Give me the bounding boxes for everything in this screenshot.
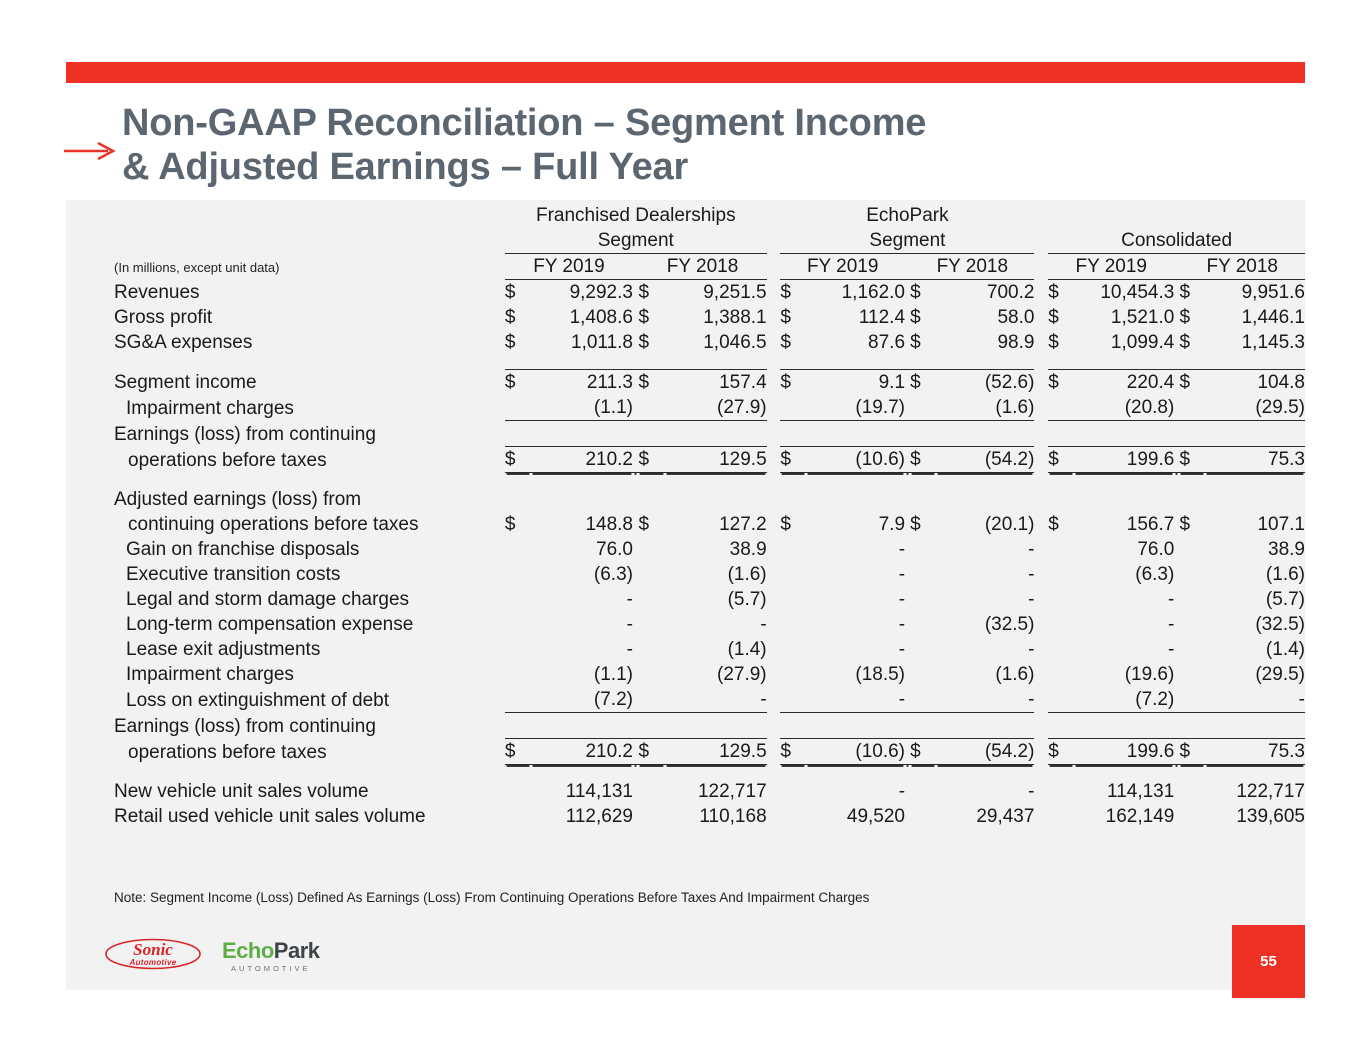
echopark-automotive-logo: EchoPark AUTOMOTIVE [222, 940, 320, 970]
table-cell-value: - [1205, 687, 1305, 713]
table-cell-value: 112,629 [531, 804, 633, 829]
table-cell-value: - [531, 637, 633, 662]
currency-symbol: $ [1179, 330, 1205, 355]
currency-symbol: $ [1179, 305, 1205, 330]
year-ep-2019: FY 2019 [780, 254, 905, 280]
year-ep-2018: FY 2018 [910, 254, 1034, 280]
column-gap [767, 739, 781, 765]
currency-symbol [780, 562, 806, 587]
currency-symbol: $ [910, 739, 936, 765]
table-cell-value: 98.9 [936, 330, 1035, 355]
column-gap [1034, 804, 1048, 829]
currency-symbol: $ [780, 447, 806, 473]
table-cell-value: 129.5 [665, 739, 767, 765]
table-row: continuing operations before taxes$148.8… [66, 512, 1305, 537]
currency-symbol [638, 687, 664, 713]
currency-symbol: $ [505, 447, 531, 473]
column-gap [767, 562, 781, 587]
table-row: Revenues$9,292.3$9,251.5$1,162.0$700.2$1… [66, 280, 1305, 306]
table-cell-value [1205, 713, 1305, 739]
year-co-2019: FY 2019 [1048, 254, 1174, 280]
currency-symbol: $ [1048, 447, 1074, 473]
table-spacer-row [66, 355, 1305, 370]
currency-symbol [910, 687, 936, 713]
row-label: Executive transition costs [66, 562, 505, 587]
echopark-wordmark: EchoPark [222, 940, 320, 962]
column-gap [1034, 587, 1048, 612]
table-row: SG&A expenses$1,011.8$1,046.5$87.6$98.9$… [66, 330, 1305, 355]
currency-symbol [780, 587, 806, 612]
column-gap [767, 421, 781, 447]
table-cell-value: - [806, 562, 905, 587]
table-cell-value: - [806, 612, 905, 637]
table-cell-value: - [936, 587, 1035, 612]
table-cell-value: (52.6) [936, 370, 1035, 396]
currency-symbol: $ [638, 305, 664, 330]
currency-symbol [780, 637, 806, 662]
column-gap [767, 637, 781, 662]
currency-symbol [910, 612, 936, 637]
table-cell-value: 76.0 [1074, 537, 1175, 562]
page-number-text: 55 [1260, 953, 1277, 970]
column-gap [767, 713, 781, 739]
financial-table: Franchised Dealerships EchoPark Segment … [66, 203, 1305, 829]
table-cell-value: - [806, 637, 905, 662]
table-cell-value: (1.4) [1205, 637, 1305, 662]
table-cell-value [936, 713, 1035, 739]
currency-symbol [1179, 421, 1205, 447]
table-cell-value: 148.8 [531, 512, 633, 537]
currency-symbol: $ [1179, 512, 1205, 537]
table-row: operations before taxes$210.2$129.5$(10.… [66, 447, 1305, 473]
page-number-badge: 55 [1232, 925, 1305, 998]
currency-symbol: $ [638, 512, 664, 537]
table-cell-value: 1,408.6 [531, 305, 633, 330]
table-cell-value: (1.4) [665, 637, 767, 662]
footnote: Note: Segment Income (Loss) Defined As E… [114, 890, 869, 905]
table-cell-value: 110,168 [665, 804, 767, 829]
table-cell-value: 87.6 [806, 330, 905, 355]
table-cell-value: - [936, 687, 1035, 713]
table-cell-value: 199.6 [1074, 739, 1175, 765]
row-label: Segment income [66, 370, 505, 396]
table-cell-value: 75.3 [1205, 739, 1305, 765]
currency-symbol [1048, 637, 1074, 662]
currency-symbol: $ [1179, 447, 1205, 473]
currency-symbol: $ [505, 370, 531, 396]
table-cell-value: (19.6) [1074, 662, 1175, 687]
currency-symbol [505, 421, 531, 447]
title-line-1: Non-GAAP Reconciliation – Segment Income [122, 102, 926, 144]
currency-symbol [1048, 713, 1074, 739]
row-label: Earnings (loss) from continuing [66, 421, 505, 447]
currency-symbol [910, 421, 936, 447]
currency-symbol [505, 587, 531, 612]
currency-symbol: $ [780, 330, 806, 355]
row-label: Gross profit [66, 305, 505, 330]
echopark-subtitle: AUTOMOTIVE [222, 964, 320, 973]
table-group-header-row-1: Franchised Dealerships EchoPark [66, 203, 1305, 228]
table-cell-value: 210.2 [531, 739, 633, 765]
currency-symbol [1048, 537, 1074, 562]
table-cell-value: 76.0 [531, 537, 633, 562]
table-cell-value: - [806, 587, 905, 612]
row-label: Long-term compensation expense [66, 612, 505, 637]
currency-symbol [1179, 612, 1205, 637]
row-label: Adjusted earnings (loss) from [66, 487, 505, 512]
table-cell-value: 114,131 [531, 779, 633, 804]
red-arrow-icon [64, 140, 116, 162]
column-gap [1034, 395, 1048, 421]
column-gap [767, 804, 781, 829]
table-cell-value: (5.7) [1205, 587, 1305, 612]
group-sub-echopark: Segment [780, 228, 1034, 254]
currency-symbol: $ [1048, 512, 1074, 537]
table-row: Loss on extinguishment of debt(7.2)---(7… [66, 687, 1305, 713]
currency-symbol: $ [780, 280, 806, 306]
currency-symbol [1048, 662, 1074, 687]
currency-symbol: $ [1179, 739, 1205, 765]
table-cell-value: (1.6) [1205, 562, 1305, 587]
currency-symbol: $ [1048, 370, 1074, 396]
row-label: Legal and storm damage charges [66, 587, 505, 612]
year-co-2018: FY 2018 [1179, 254, 1305, 280]
sonic-automotive-logo: Sonic Automotive [104, 936, 202, 972]
table-cell-value: (1.1) [531, 662, 633, 687]
column-gap [767, 779, 781, 804]
currency-symbol: $ [1048, 739, 1074, 765]
group-title-consolidated-blank [1048, 203, 1305, 228]
table-cell-value: (27.9) [665, 662, 767, 687]
group-title-echopark: EchoPark [780, 203, 1034, 228]
column-gap [767, 305, 781, 330]
table-cell-value: - [936, 637, 1035, 662]
column-gap [1034, 447, 1048, 473]
currency-symbol [505, 395, 531, 421]
table-cell-value: (19.7) [806, 395, 905, 421]
currency-symbol [1179, 395, 1205, 421]
column-gap [767, 662, 781, 687]
table-cell-value: (7.2) [1074, 687, 1175, 713]
table-cell-value [936, 487, 1035, 512]
currency-symbol [780, 662, 806, 687]
column-gap [1034, 662, 1048, 687]
currency-symbol [1179, 487, 1205, 512]
currency-symbol [638, 537, 664, 562]
currency-symbol [638, 779, 664, 804]
currency-symbol: $ [505, 739, 531, 765]
currency-symbol: $ [1048, 305, 1074, 330]
row-label: Earnings (loss) from continuing [66, 713, 505, 739]
slide: Non-GAAP Reconciliation – Segment Income… [0, 0, 1365, 1055]
currency-symbol [505, 537, 531, 562]
table-cell-value: (10.6) [806, 447, 905, 473]
table-cell-value: 10,454.3 [1074, 280, 1175, 306]
red-top-bar [66, 62, 1305, 83]
table-cell-value: 211.3 [531, 370, 633, 396]
currency-symbol [1048, 421, 1074, 447]
table-cell-value: (6.3) [1074, 562, 1175, 587]
table-spacer-row [66, 473, 1305, 488]
currency-symbol [1179, 687, 1205, 713]
table-row: New vehicle unit sales volume114,131122,… [66, 779, 1305, 804]
currency-symbol [1179, 562, 1205, 587]
table-cell-value: 58.0 [936, 305, 1035, 330]
column-gap [1034, 612, 1048, 637]
currency-symbol [638, 637, 664, 662]
echopark-echo-text: Echo [222, 938, 274, 963]
table-row: Earnings (loss) from continuing [66, 713, 1305, 739]
page-title: Non-GAAP Reconciliation – Segment Income… [122, 101, 1172, 189]
currency-symbol [505, 779, 531, 804]
currency-symbol: $ [780, 739, 806, 765]
currency-symbol [1048, 587, 1074, 612]
table-cell-value: 7.9 [806, 512, 905, 537]
table-cell-value: (1.6) [936, 395, 1035, 421]
currency-symbol: $ [780, 512, 806, 537]
table-cell-value [1205, 421, 1305, 447]
units-caption: (In millions, except unit data) [66, 254, 505, 280]
currency-symbol [638, 487, 664, 512]
currency-symbol [910, 779, 936, 804]
currency-symbol: $ [505, 512, 531, 537]
table-cell-value [1074, 421, 1175, 447]
currency-symbol: $ [638, 330, 664, 355]
table-cell-value: 122,717 [1205, 779, 1305, 804]
table-cell-value [1205, 487, 1305, 512]
column-gap [1034, 637, 1048, 662]
currency-symbol [910, 637, 936, 662]
currency-symbol [1179, 587, 1205, 612]
currency-symbol: $ [910, 280, 936, 306]
table-cell-value [806, 713, 905, 739]
currency-symbol [780, 779, 806, 804]
table-cell-value: - [806, 687, 905, 713]
table-cell-value: 129.5 [665, 447, 767, 473]
currency-symbol [638, 662, 664, 687]
table-cell-value: 75.3 [1205, 447, 1305, 473]
currency-symbol [780, 487, 806, 512]
table-cell-value [531, 713, 633, 739]
table-cell-value: - [531, 587, 633, 612]
table-cell-value: 157.4 [665, 370, 767, 396]
table-row: Impairment charges(1.1)(27.9)(18.5)(1.6)… [66, 662, 1305, 687]
currency-symbol: $ [638, 739, 664, 765]
currency-symbol [780, 612, 806, 637]
table-cell-value: (27.9) [665, 395, 767, 421]
svg-text:Sonic: Sonic [133, 940, 173, 959]
table-cell-value: 29,437 [936, 804, 1035, 829]
table-row: operations before taxes$210.2$129.5$(10.… [66, 739, 1305, 765]
table-row: Executive transition costs(6.3)(1.6)--(6… [66, 562, 1305, 587]
column-gap [767, 687, 781, 713]
table-cell-value: 700.2 [936, 280, 1035, 306]
column-gap [1034, 421, 1048, 447]
currency-symbol [505, 612, 531, 637]
currency-symbol [910, 395, 936, 421]
table-cell-value: 38.9 [665, 537, 767, 562]
column-gap [767, 612, 781, 637]
table-cell-value: 210.2 [531, 447, 633, 473]
table-row: Lease exit adjustments-(1.4)---(1.4) [66, 637, 1305, 662]
year-fr-2018: FY 2018 [638, 254, 766, 280]
row-label: operations before taxes [66, 447, 505, 473]
currency-symbol [505, 804, 531, 829]
column-gap [1034, 537, 1048, 562]
table-cell-value: 1,145.3 [1205, 330, 1305, 355]
row-label: continuing operations before taxes [66, 512, 505, 537]
table-cell-value [806, 487, 905, 512]
currency-symbol [638, 587, 664, 612]
table-cell-value: 156.7 [1074, 512, 1175, 537]
currency-symbol [1048, 804, 1074, 829]
currency-symbol [505, 637, 531, 662]
table-cell-value: (20.8) [1074, 395, 1175, 421]
column-gap [1034, 487, 1048, 512]
echopark-park-text: Park [274, 938, 320, 963]
table-cell-value: 112.4 [806, 305, 905, 330]
row-label: SG&A expenses [66, 330, 505, 355]
column-gap [1034, 739, 1048, 765]
table-row: Adjusted earnings (loss) from [66, 487, 1305, 512]
currency-symbol [505, 662, 531, 687]
table-cell-value: (7.2) [531, 687, 633, 713]
table-cell-value: 127.2 [665, 512, 767, 537]
currency-symbol [910, 562, 936, 587]
row-label: Lease exit adjustments [66, 637, 505, 662]
year-fr-2019: FY 2019 [505, 254, 633, 280]
table-cell-value: (32.5) [1205, 612, 1305, 637]
currency-symbol: $ [638, 370, 664, 396]
column-gap [767, 370, 781, 396]
table-cell-value: - [936, 562, 1035, 587]
column-gap [767, 512, 781, 537]
column-gap [767, 395, 781, 421]
currency-symbol [1179, 537, 1205, 562]
currency-symbol: $ [638, 447, 664, 473]
column-gap [1034, 305, 1048, 330]
table-cell-value: 162,149 [1074, 804, 1175, 829]
currency-symbol: $ [780, 305, 806, 330]
table-row: Impairment charges(1.1)(27.9)(19.7)(1.6)… [66, 395, 1305, 421]
svg-text:Automotive: Automotive [129, 958, 177, 967]
row-label: New vehicle unit sales volume [66, 779, 505, 804]
currency-symbol [1179, 779, 1205, 804]
currency-symbol [780, 537, 806, 562]
table-cell-value: - [806, 779, 905, 804]
currency-symbol [1179, 713, 1205, 739]
currency-symbol [780, 804, 806, 829]
currency-symbol [1048, 687, 1074, 713]
currency-symbol [505, 562, 531, 587]
table-cell-value: (54.2) [936, 739, 1035, 765]
currency-symbol: $ [638, 280, 664, 306]
table-cell-value: - [1074, 612, 1175, 637]
column-gap [1034, 562, 1048, 587]
column-gap [1034, 280, 1048, 306]
table-cell-value [531, 487, 633, 512]
currency-symbol [910, 487, 936, 512]
currency-symbol: $ [910, 447, 936, 473]
table-cell-value: 199.6 [1074, 447, 1175, 473]
currency-symbol [1048, 395, 1074, 421]
table-cell-value [1074, 713, 1175, 739]
table-cell-value: (32.5) [936, 612, 1035, 637]
currency-symbol: $ [1179, 280, 1205, 306]
table-cell-value: 1,162.0 [806, 280, 905, 306]
currency-symbol [910, 804, 936, 829]
table-cell-value: (29.5) [1205, 395, 1305, 421]
currency-symbol [780, 421, 806, 447]
table-cell-value: 38.9 [1205, 537, 1305, 562]
currency-symbol: $ [505, 280, 531, 306]
currency-symbol [505, 487, 531, 512]
column-gap [767, 537, 781, 562]
table-cell-value: (10.6) [806, 739, 905, 765]
table-cell-value: (20.1) [936, 512, 1035, 537]
group-title-franchised: Franchised Dealerships [505, 203, 767, 228]
table-cell-value: 220.4 [1074, 370, 1175, 396]
table-cell-value: (1.6) [665, 562, 767, 587]
currency-symbol: $ [780, 370, 806, 396]
currency-symbol [638, 421, 664, 447]
table-cell-value: 9,292.3 [531, 280, 633, 306]
table-cell-value: 9,251.5 [665, 280, 767, 306]
table-cell-value: 114,131 [1074, 779, 1175, 804]
table-cell-value: 9,951.6 [1205, 280, 1305, 306]
column-gap [1034, 687, 1048, 713]
table-cell-value: (29.5) [1205, 662, 1305, 687]
table-cell-value [531, 421, 633, 447]
table-row: Legal and storm damage charges-(5.7)---(… [66, 587, 1305, 612]
table-cell-value: - [531, 612, 633, 637]
column-gap [1034, 779, 1048, 804]
column-gap [1034, 512, 1048, 537]
table-cell-value [665, 487, 767, 512]
row-label: Impairment charges [66, 662, 505, 687]
table-cell-value: 107.1 [1205, 512, 1305, 537]
table-cell-value: 1,521.0 [1074, 305, 1175, 330]
column-gap [1034, 330, 1048, 355]
table-cell-value: (6.3) [531, 562, 633, 587]
currency-symbol: $ [1179, 370, 1205, 396]
table-row: Retail used vehicle unit sales volume112… [66, 804, 1305, 829]
table-cell-value: 1,388.1 [665, 305, 767, 330]
currency-symbol: $ [1048, 280, 1074, 306]
column-gap [767, 280, 781, 306]
row-label: operations before taxes [66, 739, 505, 765]
table-cell-value: - [665, 687, 767, 713]
column-gap [1034, 370, 1048, 396]
currency-symbol: $ [910, 305, 936, 330]
currency-symbol [910, 537, 936, 562]
row-label: Gain on franchise disposals [66, 537, 505, 562]
table-group-header-row-2: Segment Segment Consolidated [66, 228, 1305, 254]
table-cell-value: - [806, 537, 905, 562]
currency-symbol [638, 612, 664, 637]
table-row: Segment income$211.3$157.4$9.1$(52.6)$22… [66, 370, 1305, 396]
column-gap [767, 447, 781, 473]
column-gap [767, 487, 781, 512]
table-cell-value: 1,099.4 [1074, 330, 1175, 355]
currency-symbol [1179, 637, 1205, 662]
currency-symbol: $ [910, 512, 936, 537]
currency-symbol [1048, 487, 1074, 512]
table-row: Gain on franchise disposals76.038.9--76.… [66, 537, 1305, 562]
table-cell-value [936, 421, 1035, 447]
row-label: Retail used vehicle unit sales volume [66, 804, 505, 829]
currency-symbol [638, 804, 664, 829]
